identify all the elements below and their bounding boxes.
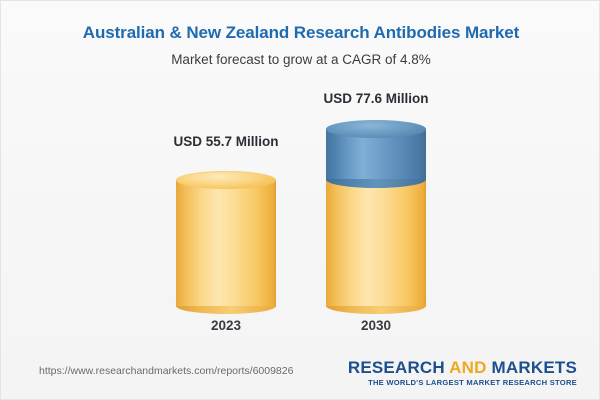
brand-word-and: AND — [449, 358, 486, 377]
page-title: Australian & New Zealand Research Antibo… — [1, 23, 600, 43]
cylinder-top-ellipse-2023 — [176, 171, 276, 189]
infographic-card: Australian & New Zealand Research Antibo… — [0, 0, 600, 400]
category-label-2023: 2023 — [146, 318, 306, 333]
brand-tagline: THE WORLD'S LARGEST MARKET RESEARCH STOR… — [348, 378, 577, 387]
brand-logo[interactable]: RESEARCH AND MARKETS THE WORLD'S LARGEST… — [348, 359, 577, 387]
bar-segment-base-2023 — [176, 179, 276, 306]
value-label-2023: USD 55.7 Million — [146, 134, 306, 149]
source-url-link[interactable]: https://www.researchandmarkets.com/repor… — [39, 365, 293, 377]
bar-group-2023: USD 55.7 Million 2023 — [146, 86, 306, 341]
bar-segment-base-2030 — [326, 179, 426, 306]
footer: https://www.researchandmarkets.com/repor… — [1, 347, 600, 399]
value-label-2030: USD 77.6 Million — [296, 91, 456, 106]
bar-segment-growth-2030 — [326, 128, 426, 179]
brand-word-research: RESEARCH — [348, 358, 449, 377]
brand-wordmark: RESEARCH AND MARKETS — [348, 359, 577, 377]
category-label-2030: 2030 — [296, 318, 456, 333]
cylinder-body-base-2030 — [326, 179, 426, 306]
chart-plot-area: USD 55.7 Million 2023 USD 77.6 Million — [1, 86, 600, 341]
cylinder-body-2023 — [176, 179, 276, 306]
chart-subtitle: Market forecast to grow at a CAGR of 4.8… — [1, 52, 600, 67]
brand-word-markets: MARKETS — [487, 358, 577, 377]
bar-group-2030: USD 77.6 Million 2030 — [296, 86, 456, 341]
cylinder-top-ellipse-2030 — [326, 120, 426, 138]
